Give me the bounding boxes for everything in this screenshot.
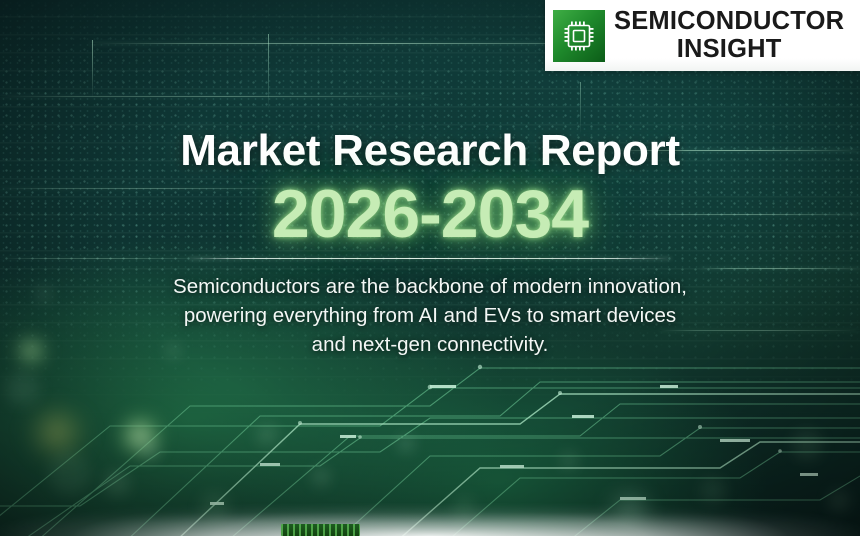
subtitle-line-2: powering everything from AI and EVs to s…	[110, 301, 750, 330]
page-title: Market Research Report	[0, 128, 860, 174]
subtitle-line-1: Semiconductors are the backbone of moder…	[110, 272, 750, 301]
brand-name: SEMICONDUCTOR INSIGHT	[614, 9, 848, 63]
hero-content: Market Research Report 2026-2034 Semicon…	[0, 128, 860, 360]
circuit-corner-bracket	[92, 40, 93, 98]
brand-name-line-1: SEMICONDUCTOR	[614, 9, 844, 35]
hero-subtitle: Semiconductors are the backbone of moder…	[110, 272, 750, 359]
microchip-icon	[553, 10, 605, 62]
report-banner: SEMICONDUCTOR INSIGHT Market Research Re…	[0, 0, 860, 536]
subtitle-line-3: and next-gen connectivity.	[110, 330, 750, 359]
bottom-chip-module	[281, 524, 360, 536]
circuit-trace-horizontal	[0, 96, 430, 97]
year-range: 2026-2034	[0, 180, 860, 248]
title-divider	[189, 258, 671, 259]
circuit-corner-bracket	[268, 34, 269, 110]
brand-logo[interactable]: SEMICONDUCTOR INSIGHT	[545, 0, 860, 71]
brand-name-line-2: INSIGHT	[614, 37, 844, 63]
